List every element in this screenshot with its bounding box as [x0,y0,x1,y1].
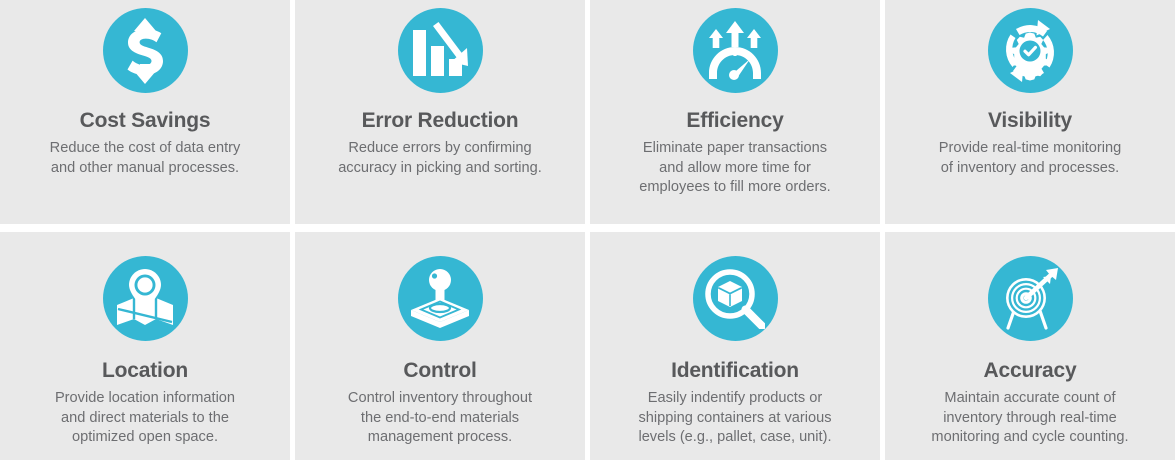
card-title: Location [102,359,188,382]
card-description: Reduce errors by confirming accuracy in … [338,139,542,178]
card-title: Visibility [988,109,1072,132]
card-cost-savings[interactable]: Cost Savings Reduce the cost of data ent… [0,0,290,224]
card-error-reduction[interactable]: Error Reduction Reduce errors by confirm… [295,0,585,224]
card-title: Cost Savings [80,109,211,132]
benefits-infographic: Cost Savings Reduce the cost of data ent… [0,0,1175,460]
card-location[interactable]: Location Provide location information an… [0,232,290,460]
benefits-grid: Cost Savings Reduce the cost of data ent… [0,0,1175,460]
bar-chart-down-arrow-icon [398,8,483,93]
card-description: Control inventory throughout the end-to-… [348,389,532,447]
card-title: Efficiency [686,109,783,132]
card-title: Error Reduction [362,109,519,132]
gear-check-refresh-icon [988,8,1073,93]
card-title: Accuracy [984,359,1077,382]
card-description: Provide location information and direct … [55,389,235,447]
joystick-icon [398,256,483,341]
speedometer-up-arrows-icon [693,8,778,93]
card-title: Identification [671,359,799,382]
card-description: Eliminate paper transactions and allow m… [639,139,830,197]
card-visibility[interactable]: Visibility Provide real-time monitoring … [885,0,1175,224]
card-description: Easily indentify products or shipping co… [638,389,831,447]
card-description: Provide real-time monitoring of inventor… [939,139,1122,178]
card-efficiency[interactable]: Efficiency Eliminate paper transactions … [590,0,880,224]
card-description: Reduce the cost of data entry and other … [50,139,241,178]
card-control[interactable]: Control Control inventory throughout the… [295,232,585,460]
map-pin-icon [103,256,188,341]
target-arrow-icon [988,256,1073,341]
dollar-arrow-icon [103,8,188,93]
card-description: Maintain accurate count of inventory thr… [931,389,1128,447]
card-accuracy[interactable]: Accuracy Maintain accurate count of inve… [885,232,1175,460]
card-identification[interactable]: Identification Easily indentify products… [590,232,880,460]
magnifier-box-icon [693,256,778,341]
card-title: Control [403,359,476,382]
